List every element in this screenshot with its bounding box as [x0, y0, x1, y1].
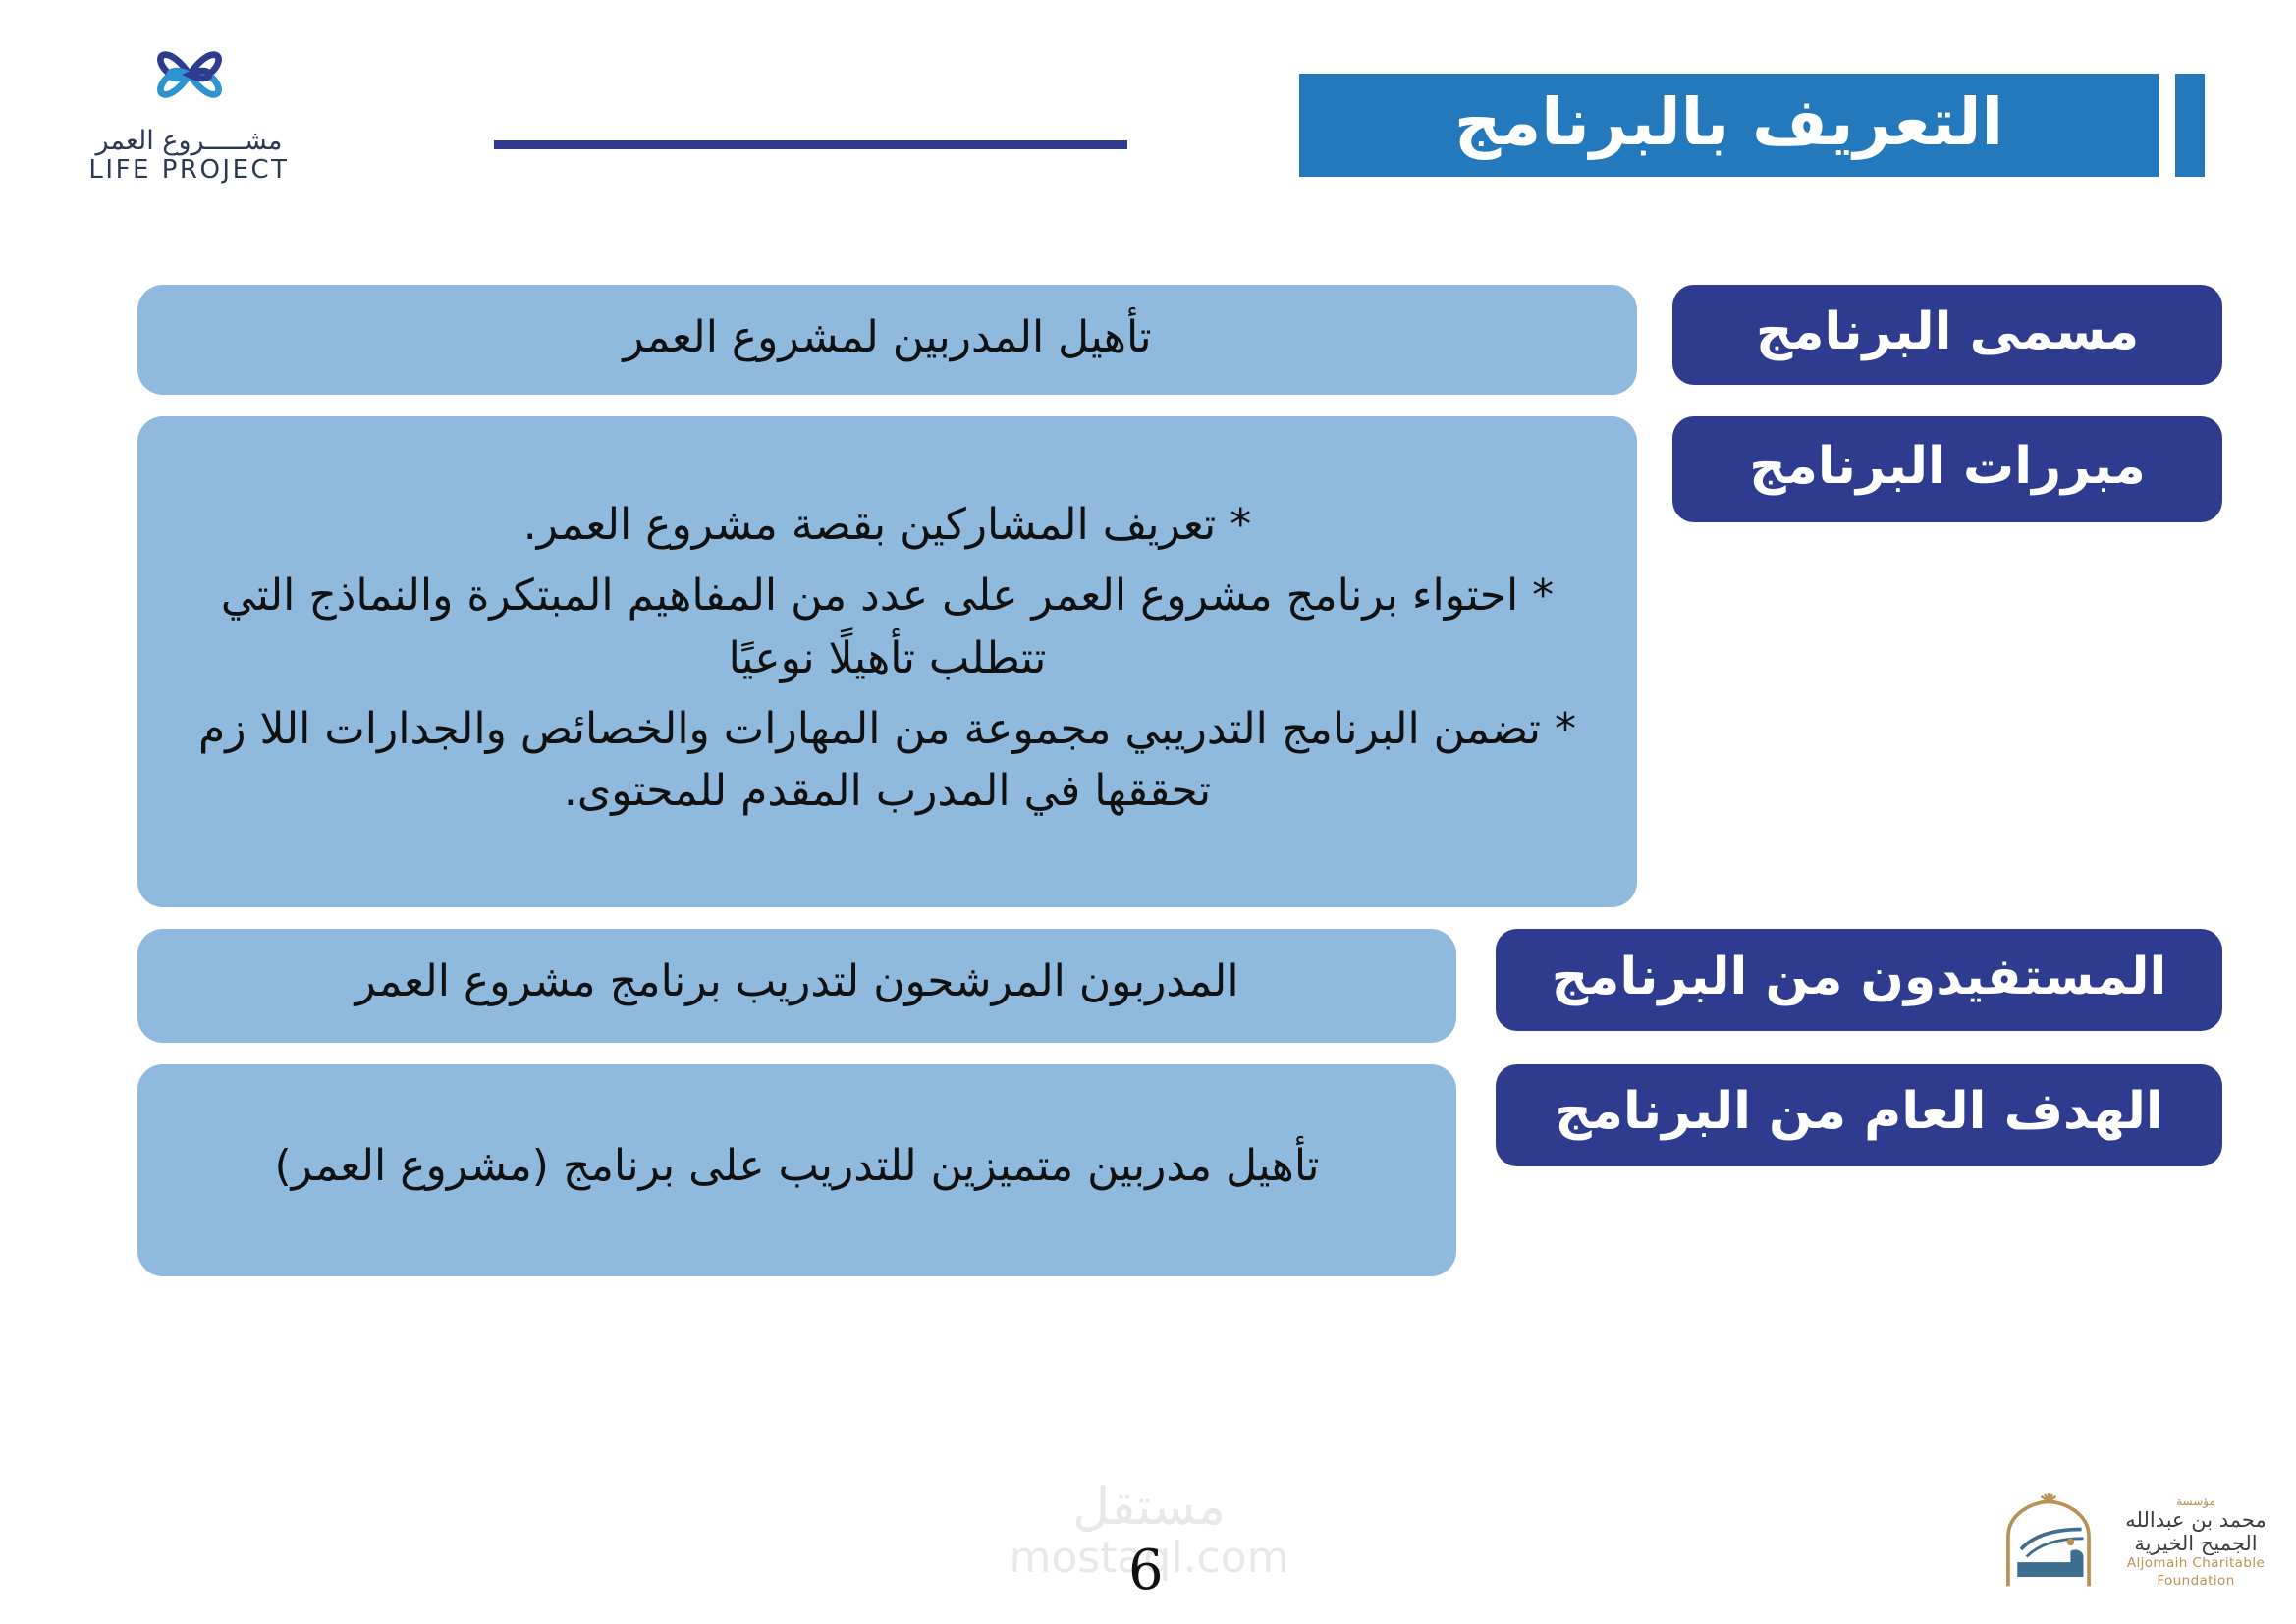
brand-name-english: LIFE PROJECT	[83, 155, 295, 186]
page-title: التعريف بالبرنامج	[1454, 90, 2003, 161]
row-content-beneficiaries: المدربون المرشحون لتدريب برنامج مشروع ال…	[137, 929, 1456, 1043]
row-content-program-justifications: * تعريف المشاركين بقصة مشروع العمر. * اح…	[137, 416, 1637, 907]
header-divider-rule	[494, 140, 1127, 149]
sponsor-name-arabic: محمد بن عبدالله الجميح الخيرية	[2113, 1508, 2278, 1555]
brand-name-arabic: مشـــــروع العمر	[83, 128, 295, 155]
table-row: مبررات البرنامج * تعريف المشاركين بقصة م…	[0, 416, 2296, 907]
slide-title-bar: التعريف بالبرنامج	[1299, 74, 2159, 177]
watermark-arabic: مستقل	[992, 1482, 1306, 1533]
table-row: الهدف العام من البرنامج تأهيل مدربين متم…	[0, 1064, 2296, 1276]
mosque-arch-logo-icon	[1994, 1493, 2104, 1592]
row-label-general-objective: الهدف العام من البرنامج	[1496, 1064, 2222, 1166]
row-label-beneficiaries: المستفيدون من البرنامج	[1496, 929, 2222, 1031]
slide-header: مشـــــروع العمر LIFE PROJECT التعريف با…	[0, 0, 2296, 245]
page-number: 6	[1128, 1539, 1164, 1602]
program-info-table: مسمى البرنامج تأهيل المدربين لمشروع العم…	[0, 285, 2296, 1298]
table-row: المستفيدون من البرنامج المدربون المرشحون…	[0, 929, 2296, 1043]
row-content-program-name: تأهيل المدربين لمشروع العمر	[137, 285, 1637, 395]
table-row: مسمى البرنامج تأهيل المدربين لمشروع العم…	[0, 285, 2296, 395]
row-content-general-objective: تأهيل مدربين متميزين للتدريب على برنامج …	[137, 1064, 1456, 1276]
row-label-program-name: مسمى البرنامج	[1672, 285, 2222, 385]
list-item: * تضمن البرنامج التدريبي مجموعة من المها…	[192, 698, 1582, 824]
title-accent-tab	[2175, 74, 2205, 177]
sponsor-logo-text: مؤسسة محمد بن عبدالله الجميح الخيرية Alj…	[2113, 1495, 2278, 1591]
list-item: * احتواء برنامج مشروع العمر على عدد من ا…	[192, 565, 1582, 690]
brand-logo: مشـــــروع العمر LIFE PROJECT	[83, 27, 295, 187]
sponsor-name-prefix: مؤسسة	[2113, 1495, 2278, 1508]
butterfly-knot-logo-icon	[142, 27, 237, 122]
list-item: * تعريف المشاركين بقصة مشروع العمر.	[192, 494, 1582, 557]
row-label-program-justifications: مبررات البرنامج	[1672, 416, 2222, 522]
sponsor-name-english: Aljomaih Charitable Foundation	[2113, 1555, 2278, 1590]
sponsor-logo: مؤسسة محمد بن عبدالله الجميح الخيرية Alj…	[1994, 1489, 2278, 1597]
